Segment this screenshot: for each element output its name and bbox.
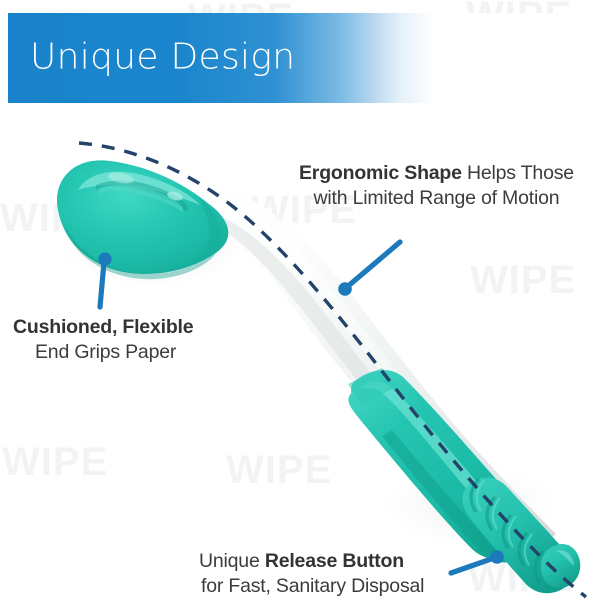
callout-release-button: Unique Release Button for Fast, Sanitary…: [199, 549, 424, 598]
leader-ergonomic: [338, 242, 400, 296]
callout-cushioned-flexible: Cushioned, Flexible End Grips Paper: [13, 315, 193, 364]
header-banner: Unique Design: [8, 13, 602, 103]
callout-ergonomic-shape: Ergonomic Shape Helps Those with Limited…: [299, 161, 574, 210]
callout-cushioned-bold: Cushioned, Flexible: [13, 316, 193, 338]
callout-release-lead: Unique: [199, 550, 265, 572]
infographic-canvas: WIPE WIPE WIPE WIPE WIPE WIPE WIPE WIPE: [0, 0, 610, 610]
callout-ergonomic-rest: Helps Those: [462, 162, 574, 184]
page-title: Unique Design: [30, 39, 295, 75]
callout-cushioned-line2: End Grips Paper: [13, 340, 193, 365]
leader-release: [451, 550, 504, 573]
callout-ergonomic-bold: Ergonomic Shape: [299, 162, 462, 184]
callout-ergonomic-line2: with Limited Range of Motion: [299, 186, 574, 211]
callout-release-bold: Release Button: [265, 550, 404, 572]
callout-release-line2: for Fast, Sanitary Disposal: [199, 574, 424, 599]
